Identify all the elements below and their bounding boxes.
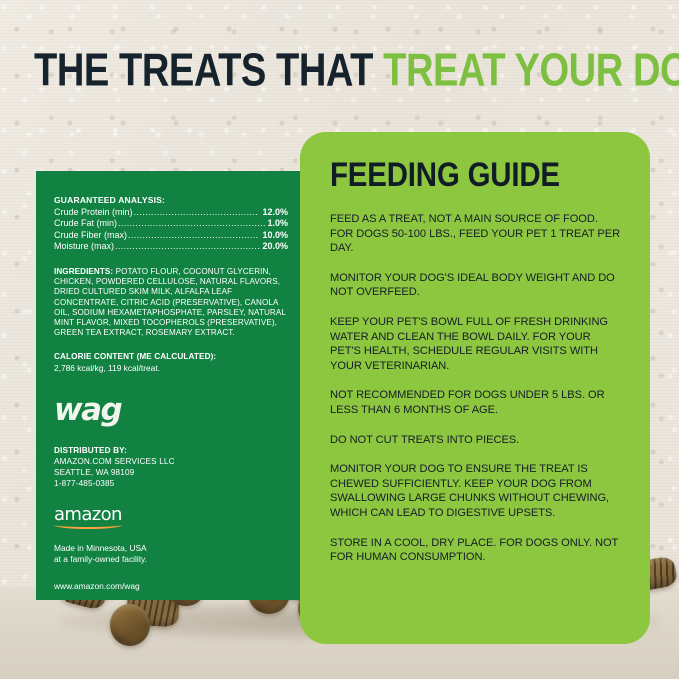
amazon-brand-logo: amazon: [54, 506, 134, 529]
guaranteed-analysis-table: Crude Protein (min) ....................…: [54, 207, 288, 253]
ingredients-panel: GUARANTEED ANALYSIS: Crude Protein (min)…: [36, 171, 306, 600]
distributor-city-state: SEATTLE, WA 98109: [54, 467, 288, 478]
feeding-guide-paragraph: KEEP YOUR PET'S BOWL FULL OF FRESH DRINK…: [330, 315, 624, 373]
analysis-name: Moisture (max): [54, 241, 114, 252]
analysis-name: Crude Fiber (max): [54, 230, 127, 241]
leader-dots: ........................................…: [134, 207, 262, 218]
table-row: Moisture (max) .........................…: [54, 241, 288, 252]
distributed-by-block: DISTRIBUTED BY: AMAZON.COM SERVICES LLC …: [54, 445, 288, 489]
feeding-guide-panel: FEEDING GUIDE FEED AS A TREAT, NOT A MAI…: [300, 132, 650, 644]
feeding-guide-paragraph: DO NOT CUT TREATS INTO PIECES.: [330, 433, 624, 448]
calorie-content-value: 2,786 kcal/kg, 119 kcal/treat.: [54, 363, 288, 373]
distributor-company: AMAZON.COM SERVICES LLC: [54, 456, 288, 467]
calorie-content-block: CALORIE CONTENT (ME CALCULATED): 2,786 k…: [54, 352, 288, 373]
analysis-value: 12.0%: [262, 207, 288, 218]
table-row: Crude Fat (min) ........................…: [54, 218, 288, 229]
calorie-content-heading: CALORIE CONTENT (ME CALCULATED):: [54, 352, 288, 361]
analysis-value: 10.0%: [262, 230, 288, 241]
made-in-line2: at a family-owned facility.: [54, 554, 288, 565]
feeding-guide-paragraph: MONITOR YOUR DOG'S IDEAL BODY WEIGHT AND…: [330, 271, 624, 300]
feeding-guide-title: FEEDING GUIDE: [330, 157, 600, 192]
analysis-value: 20.0%: [262, 241, 288, 252]
leader-dots: ........................................…: [128, 230, 261, 241]
distributor-phone: 1-877-485-0385: [54, 478, 288, 489]
made-in-block: Made in Minnesota, USA at a family-owned…: [54, 543, 288, 565]
headline-dark-text: THE TREATS THAT: [34, 44, 373, 96]
feeding-guide-paragraph: FEED AS A TREAT, NOT A MAIN SOURCE OF FO…: [330, 212, 624, 256]
table-row: Crude Protein (min) ....................…: [54, 207, 288, 218]
ingredients-text: POTATO FLOUR, COCONUT GLYCERIN, CHICKEN,…: [54, 267, 286, 338]
guaranteed-analysis-heading: GUARANTEED ANALYSIS:: [54, 195, 288, 205]
amazon-wordmark: amazon: [54, 506, 134, 523]
feeding-guide-paragraph: STORE IN A COOL, DRY PLACE. FOR DOGS ONL…: [330, 536, 624, 565]
wag-brand-logo: wag: [54, 395, 288, 426]
page-title: THE TREATS THAT TREAT YOUR DOG RIGHT: [34, 48, 611, 94]
treat-piece: [110, 604, 150, 646]
ingredients-label: INGREDIENTS:: [54, 267, 113, 276]
table-row: Crude Fiber (max) ......................…: [54, 230, 288, 241]
product-label-image: THE TREATS THAT TREAT YOUR DOG RIGHT GUA…: [0, 0, 679, 679]
analysis-name: Crude Fat (min): [54, 218, 117, 229]
analysis-name: Crude Protein (min): [54, 207, 133, 218]
feeding-guide-paragraph: NOT RECOMMENDED FOR DOGS UNDER 5 LBS. OR…: [330, 388, 624, 417]
analysis-value: 1.0%: [267, 218, 288, 229]
feeding-guide-paragraph: MONITOR YOUR DOG TO ENSURE THE TREAT IS …: [330, 462, 624, 520]
ingredients-list: INGREDIENTS: POTATO FLOUR, COCONUT GLYCE…: [54, 267, 288, 339]
distributed-by-heading: DISTRIBUTED BY:: [54, 445, 288, 456]
leader-dots: ........................................…: [115, 241, 261, 252]
headline-lime-text: TREAT YOUR DOG RIGHT: [383, 44, 679, 96]
website-url: www.amazon.com/wag: [54, 581, 288, 591]
made-in-line1: Made in Minnesota, USA: [54, 543, 288, 554]
leader-dots: ........................................…: [118, 218, 266, 229]
